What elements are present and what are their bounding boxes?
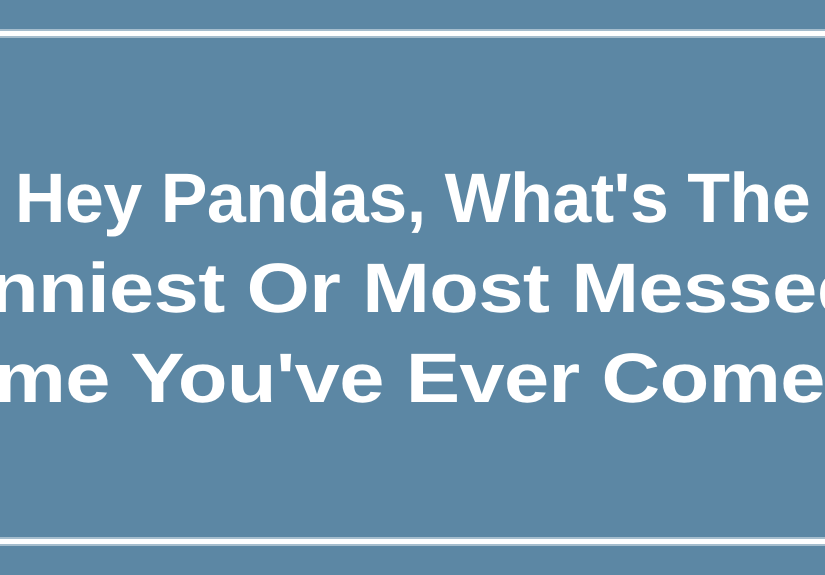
headline-line-3: Name You've Ever Come Across?	[0, 333, 825, 423]
bottom-divider	[0, 539, 825, 544]
article-header-card: Hey Pandas, What's The Funniest Or Most …	[0, 0, 825, 575]
headline-line-2: Funniest Or Most Messed-Up	[0, 243, 825, 333]
headline-container: Hey Pandas, What's The Funniest Or Most …	[0, 36, 825, 539]
page-title: Hey Pandas, What's The Funniest Or Most …	[0, 153, 825, 423]
headline-line-1: Hey Pandas, What's The	[0, 153, 825, 243]
